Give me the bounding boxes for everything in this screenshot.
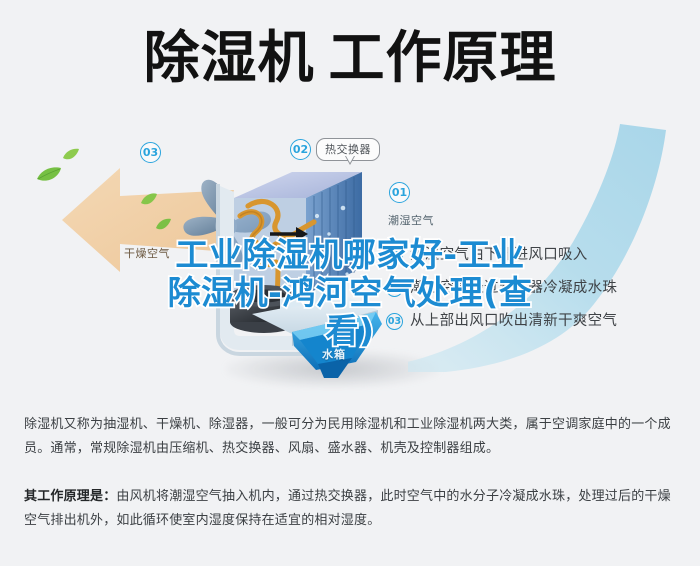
page-title-text: 除湿机工作原理 [144,31,557,87]
legend-label: 从上部出风口吹出清新干爽空气 [410,312,617,330]
process-legend: 01 潮湿空气由下部进风口吸入 02 潮湿空气经过蒸发器冷凝成水珠 03 从上部… [386,246,686,345]
legend-number: 03 [386,313,403,330]
dry-air-label: 干燥空气 [124,245,170,261]
legend-item: 03 从上部出风口吹出清新干爽空气 [386,312,686,330]
page-title-part2: 工作原理 [329,26,557,91]
leaf-icon [62,148,80,162]
description-lead: 其工作原理是： [24,488,116,503]
legend-item: 02 潮湿空气经过蒸发器冷凝成水珠 [386,279,686,297]
water-tank-label: 水箱 [322,346,346,362]
humid-air-label: 潮湿空气 [388,212,434,228]
description-rest: 由风机将潮湿空气抽入机内，通过热交换器，此时空气中的水分子冷凝成水珠，处理过后的… [24,488,671,527]
diagram-badge-01: 01 [389,182,410,203]
legend-number: 01 [386,247,403,264]
callout-tail-icon [345,156,355,165]
page-title: 除湿机工作原理 [0,0,700,118]
legend-item: 01 潮湿空气由下部进风口吸入 [386,246,686,264]
description-block: 除湿机又称为抽湿机、干燥机、除湿器，一般可分为民用除湿机和工业除湿机两大类，属于… [0,412,700,538]
legend-label: 潮湿空气经过蒸发器冷凝成水珠 [410,279,617,297]
description-paragraph-2: 其工作原理是：由风机将潮湿空气抽入机内，通过热交换器，此时空气中的水分子冷凝成水… [24,484,676,532]
page-root: 除湿机工作原理 [0,0,700,566]
legend-label: 潮湿空气由下部进风口吸入 [410,246,588,264]
page-title-part1: 除湿机 [144,26,315,91]
description-paragraph-1: 除湿机又称为抽湿机、干燥机、除湿器，一般可分为民用除湿机和工业除湿机两大类，属于… [24,412,676,460]
legend-number: 02 [386,280,403,297]
diagram-badge-02: 02 [290,139,311,160]
leaf-icon [36,166,62,184]
leaf-icon [140,192,158,207]
diagram-badge-03: 03 [140,142,161,163]
